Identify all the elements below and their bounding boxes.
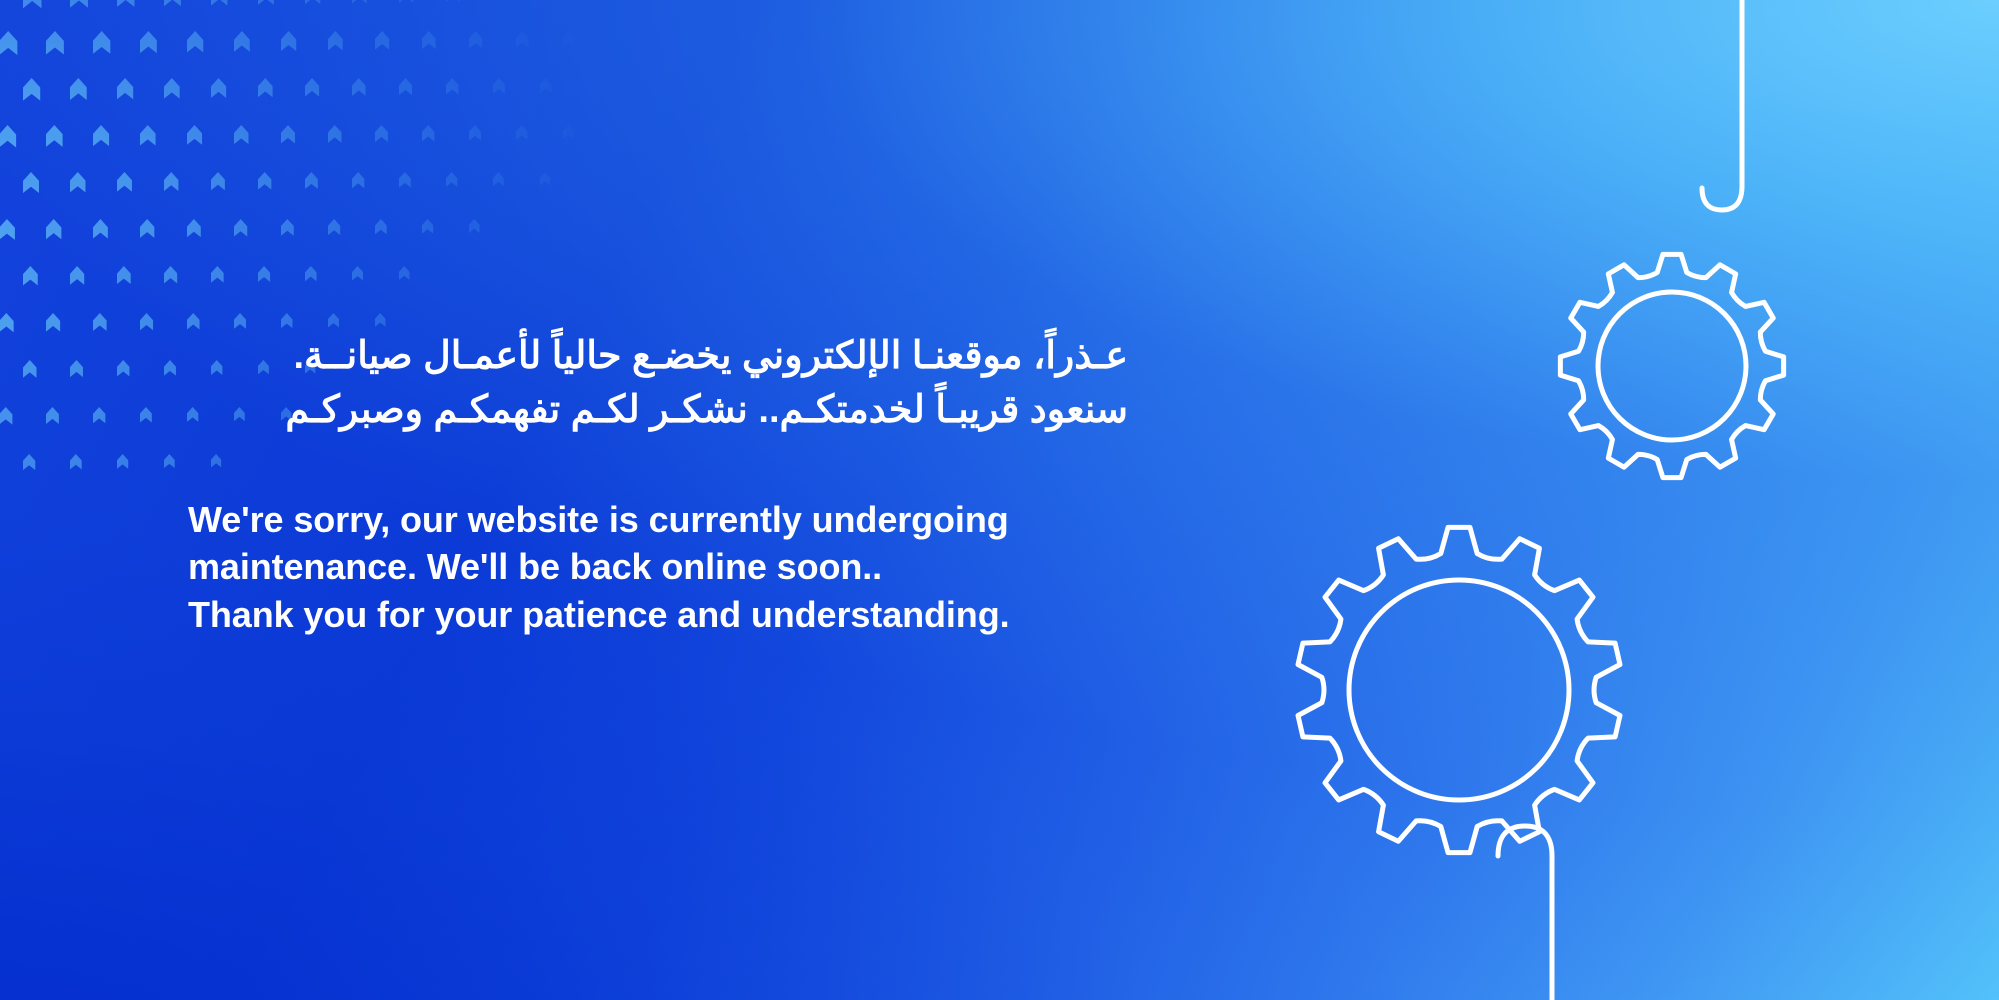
english-line-1: We're sorry, our website is currently un… bbox=[188, 496, 1138, 544]
english-message: We're sorry, our website is currently un… bbox=[188, 496, 1138, 639]
maintenance-page: عـذراً، موقعنـا الإلكتروني يخضـع حالياً … bbox=[0, 0, 1999, 1000]
english-line-2: maintenance. We'll be back online soon.. bbox=[188, 543, 1138, 591]
english-line-3: Thank you for your patience and understa… bbox=[188, 591, 1138, 639]
arabic-message: عـذراً، موقعنـا الإلكتروني يخضـع حالياً … bbox=[188, 330, 1128, 438]
message-content: عـذراً، موقعنـا الإلكتروني يخضـع حالياً … bbox=[188, 330, 1138, 638]
arabic-line-1: عـذراً، موقعنـا الإلكتروني يخضـع حالياً … bbox=[188, 330, 1128, 384]
arabic-line-2: سنعود قريبـاً لخدمتكـم.. نشكـر لكـم تفهم… bbox=[188, 384, 1128, 438]
